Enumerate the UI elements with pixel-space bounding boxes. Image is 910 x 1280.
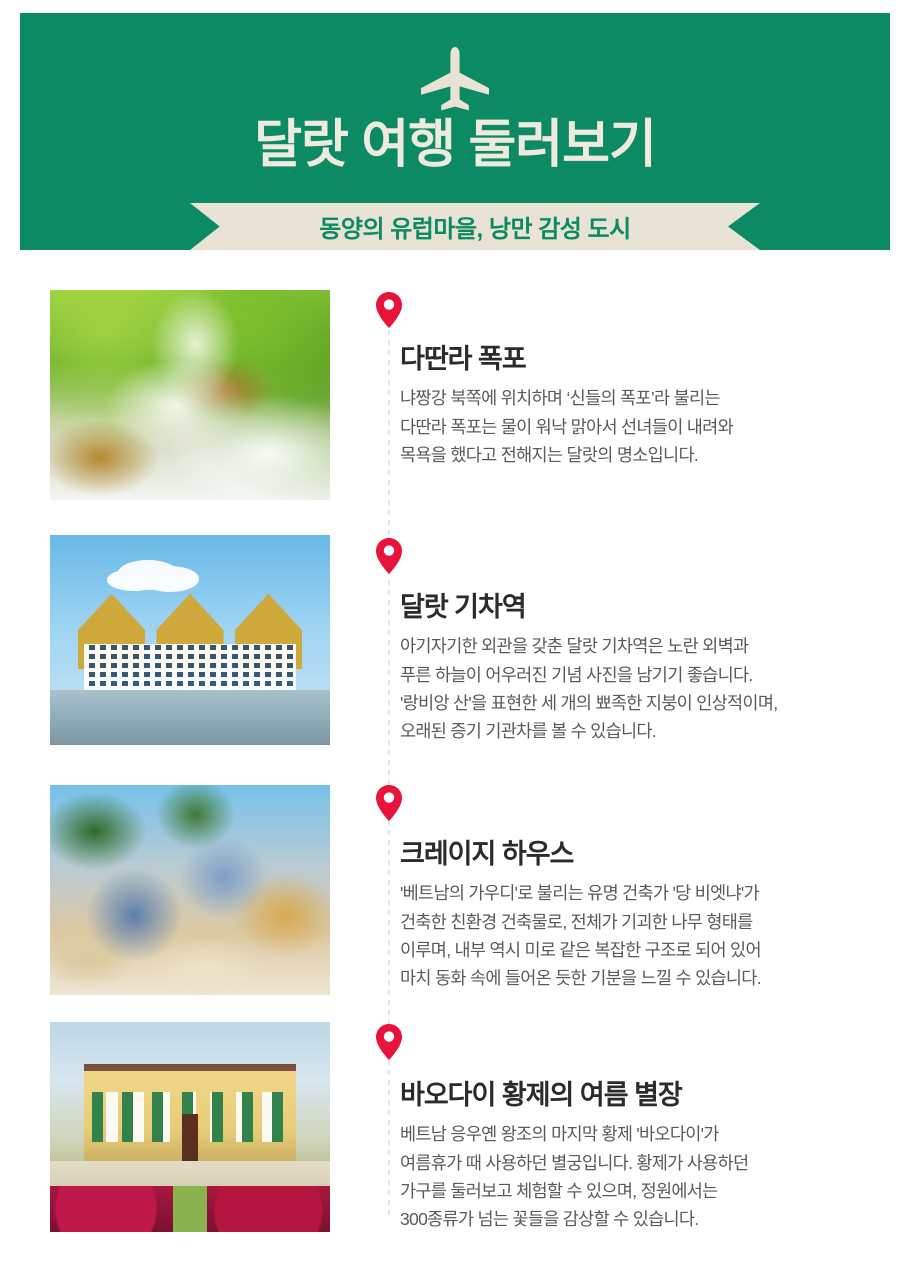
map-pin-icon [376, 1024, 402, 1060]
station-base [50, 690, 330, 745]
attraction-title: 크레이지 하우스 [400, 838, 860, 870]
map-pin-icon [376, 785, 402, 821]
attraction-description: 아기자기한 외관을 갖춘 달랏 기차역은 노란 외벽과 푸른 하늘이 어우러진 … [400, 632, 860, 745]
subtitle-text: 동양의 유럽마을, 낭만 감성 도시 [319, 209, 630, 244]
attraction-photo [50, 290, 330, 500]
attraction-info: 바오다이 황제의 여름 별장 베트남 응우옌 왕조의 마지막 황제 '바오다이'… [400, 1079, 860, 1234]
ribbon-notch-icon [728, 203, 760, 250]
station-windows [84, 644, 297, 690]
attraction-description: '베트남의 가우디'로 불리는 유명 건축가 '당 비엣냐'가 건축한 친환경 … [400, 879, 860, 992]
timeline-connector [388, 300, 390, 1220]
attraction-info: 크레이지 하우스 '베트남의 가우디'로 불리는 유명 건축가 '당 비엣냐'가… [400, 838, 860, 993]
attraction-title: 다딴라 폭포 [400, 343, 860, 375]
map-pin-icon [376, 538, 402, 574]
infographic-page: 달랏 여행 둘러보기 동양의 유럽마을, 낭만 감성 도시 다딴라 폭포 냐짱강… [0, 0, 910, 1280]
header-banner: 달랏 여행 둘러보기 동양의 유럽마을, 낭만 감성 도시 [20, 13, 890, 250]
waterfall-illustration [50, 290, 330, 500]
cloud-shape [117, 560, 179, 589]
airplane-icon [419, 47, 491, 113]
attraction-info: 달랏 기차역 아기자기한 외관을 갖춘 달랏 기차역은 노란 외벽과 푸른 하늘… [400, 591, 860, 746]
attraction-photo [50, 785, 330, 995]
crazy-house-illustration [50, 785, 330, 995]
page-title: 달랏 여행 둘러보기 [20, 117, 890, 173]
attraction-title: 바오다이 황제의 여름 별장 [400, 1079, 860, 1111]
attraction-description: 냐짱강 북쪽에 위치하며 ‘신들의 폭포’라 불리는 다딴라 폭포는 물이 워낙… [400, 384, 860, 469]
train-station-illustration [50, 535, 330, 745]
flower-garden [50, 1186, 330, 1232]
attraction-description: 베트남 응우옌 왕조의 마지막 황제 '바오다이'가 여름휴가 때 사용하던 별… [400, 1120, 860, 1233]
attraction-info: 다딴라 폭포 냐짱강 북쪽에 위치하며 ‘신들의 폭포’라 불리는 다딴라 폭포… [400, 343, 860, 469]
attraction-title: 달랏 기차역 [400, 591, 860, 623]
attraction-photo [50, 535, 330, 745]
subtitle-ribbon: 동양의 유럽마을, 낭만 감성 도시 [190, 203, 760, 250]
attraction-photo [50, 1022, 330, 1232]
summer-palace-illustration [50, 1022, 330, 1232]
map-pin-icon [376, 292, 402, 328]
